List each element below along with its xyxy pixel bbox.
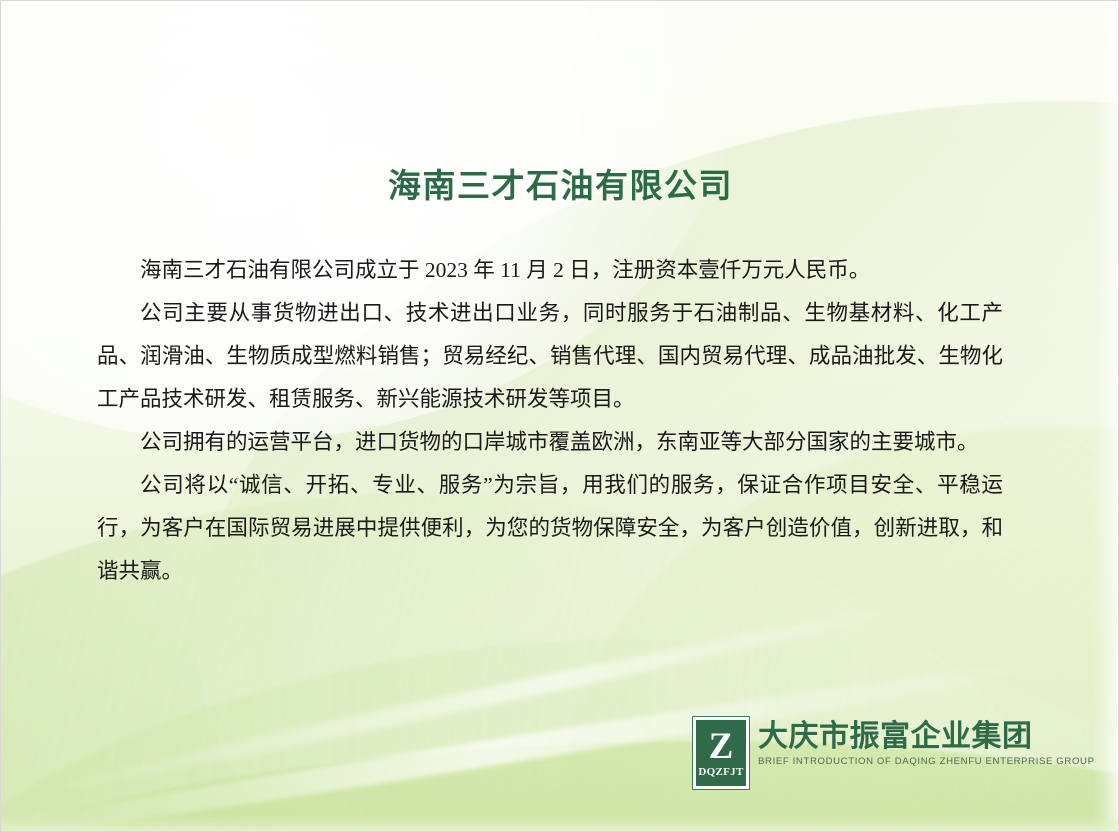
logo-text-block: 大庆市振富企业集团 BRIEF INTRODUCTION OF DAQING Z…	[758, 717, 1095, 767]
body-paragraph-3: 公司拥有的运营平台，进口货物的口岸城市覆盖欧洲，东南亚等大部分国家的主要城市。	[97, 421, 1003, 464]
logo-company-name-cn: 大庆市振富企业集团	[758, 721, 1095, 753]
logo-letter-z: Z	[709, 729, 734, 764]
body-paragraph-4: 公司将以“诚信、开拓、专业、服务”为宗旨，用我们的服务，保证合作项目安全、平稳运…	[97, 464, 1003, 593]
presentation-slide: 海南三才石油有限公司 海南三才石油有限公司成立于 2023 年 11 月 2 日…	[0, 0, 1119, 832]
page-title: 海南三才石油有限公司	[1, 159, 1119, 207]
company-logo-lockup: Z DQZFJT 大庆市振富企业集团 BRIEF INTRODUCTION OF…	[693, 717, 1095, 789]
body-paragraph-1: 海南三才石油有限公司成立于 2023 年 11 月 2 日，注册资本壹仟万元人民…	[97, 249, 1003, 292]
z-monogram-icon: Z DQZFJT	[693, 717, 749, 789]
logo-company-name-en: BRIEF INTRODUCTION OF DAQING ZHENFU ENTE…	[758, 756, 1095, 767]
logo-abbreviation: DQZFJT	[698, 766, 743, 778]
body-paragraph-2: 公司主要从事货物进出口、技术进出口业务，同时服务于石油制品、生物基材料、化工产品…	[97, 292, 1003, 421]
body-text-block: 海南三才石油有限公司成立于 2023 年 11 月 2 日，注册资本壹仟万元人民…	[97, 249, 1003, 593]
slide-content: 海南三才石油有限公司 海南三才石油有限公司成立于 2023 年 11 月 2 日…	[1, 1, 1119, 832]
